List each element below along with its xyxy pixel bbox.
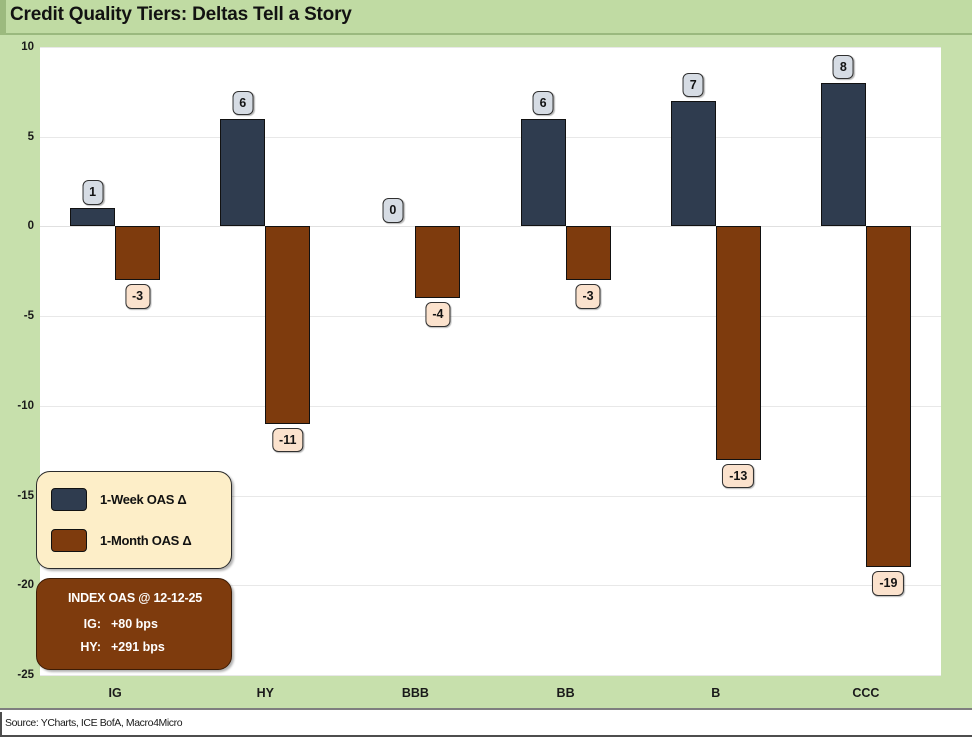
- legend-item-series2[interactable]: 1-Month OAS Δ: [51, 527, 191, 553]
- bar-b-series1[interactable]: [671, 101, 716, 227]
- bar-ig-series2[interactable]: [115, 226, 160, 280]
- legend-item-label: 1-Month OAS Δ: [100, 533, 191, 548]
- y-axis-tick-label: -20: [0, 579, 34, 591]
- info-box-row-value: +80 bps: [111, 617, 158, 631]
- info-box-row-key: HY:: [37, 640, 111, 654]
- gridline: [40, 675, 941, 676]
- gridline: [40, 226, 941, 227]
- y-axis-tick-label: -10: [0, 400, 34, 412]
- data-label-b-series1: 7: [683, 73, 704, 98]
- title-accent-bar: [0, 0, 6, 35]
- x-axis-tick-label: IG: [108, 686, 121, 700]
- data-label-hy-series1: 6: [232, 91, 253, 116]
- y-axis-tick-label: -25: [0, 669, 34, 681]
- legend-item-label: 1-Week OAS Δ: [100, 492, 186, 507]
- bar-b-series2[interactable]: [716, 226, 761, 459]
- data-label-ccc-series1: 8: [833, 55, 854, 80]
- bar-hy-series2[interactable]: [265, 226, 310, 423]
- info-box-row-key: IG:: [37, 617, 111, 631]
- bar-ig-series1[interactable]: [70, 208, 115, 226]
- y-axis-tick-label: 5: [0, 131, 34, 143]
- y-axis-tick-label: -5: [0, 310, 34, 322]
- x-axis-tick-label: HY: [257, 686, 274, 700]
- index-oas-info-box: INDEX OAS @ 12-12-25 IG:+80 bps HY:+291 …: [36, 578, 232, 670]
- x-axis-tick-label: BBB: [402, 686, 429, 700]
- x-axis-tick-label: B: [711, 686, 720, 700]
- y-axis-tick-label: 0: [0, 220, 34, 232]
- bar-ccc-series1[interactable]: [821, 83, 866, 227]
- chart-legend: 1-Week OAS Δ 1-Month OAS Δ: [36, 471, 232, 569]
- data-label-bb-series2: -3: [576, 284, 601, 309]
- data-label-ig-series2: -3: [125, 284, 150, 309]
- legend-swatch-icon: [51, 529, 87, 552]
- data-label-bbb-series1: 0: [382, 198, 403, 223]
- y-axis-tick-label: 10: [0, 41, 34, 53]
- bar-ccc-series2[interactable]: [866, 226, 911, 567]
- info-box-row-hy: HY:+291 bps: [37, 640, 233, 654]
- data-label-hy-series2: -11: [272, 428, 303, 453]
- gridline: [40, 137, 941, 138]
- page-title: Credit Quality Tiers: Deltas Tell a Stor…: [10, 4, 352, 26]
- data-label-b-series2: -13: [722, 464, 754, 489]
- gridline: [40, 406, 941, 407]
- source-text: Source: YCharts, ICE BofA, Macro4Micro: [5, 717, 182, 729]
- footer-tick-mark: [0, 712, 2, 737]
- chart-footer: Source: YCharts, ICE BofA, Macro4Micro: [0, 712, 972, 737]
- chart-root: Credit Quality Tiers: Deltas Tell a Stor…: [0, 0, 972, 737]
- bar-bb-series2[interactable]: [566, 226, 611, 280]
- x-axis-tick-label: BB: [557, 686, 575, 700]
- data-label-ig-series1: 1: [82, 180, 103, 205]
- legend-item-series1[interactable]: 1-Week OAS Δ: [51, 486, 186, 512]
- info-box-title: INDEX OAS @ 12-12-25: [37, 591, 233, 605]
- bar-bb-series1[interactable]: [521, 119, 566, 227]
- x-axis-tick-label: CCC: [852, 686, 879, 700]
- info-box-row-value: +291 bps: [111, 640, 165, 654]
- y-axis-tick-label: -15: [0, 490, 34, 502]
- info-box-row-ig: IG:+80 bps: [37, 617, 233, 631]
- gridline: [40, 47, 941, 48]
- bar-bbb-series2[interactable]: [415, 226, 460, 298]
- bar-hy-series1[interactable]: [220, 119, 265, 227]
- legend-swatch-icon: [51, 488, 87, 511]
- data-label-bbb-series2: -4: [425, 302, 450, 327]
- data-label-bb-series1: 6: [533, 91, 554, 116]
- chart-title-bar: Credit Quality Tiers: Deltas Tell a Stor…: [0, 0, 972, 35]
- gridline: [40, 316, 941, 317]
- data-label-ccc-series2: -19: [872, 571, 904, 596]
